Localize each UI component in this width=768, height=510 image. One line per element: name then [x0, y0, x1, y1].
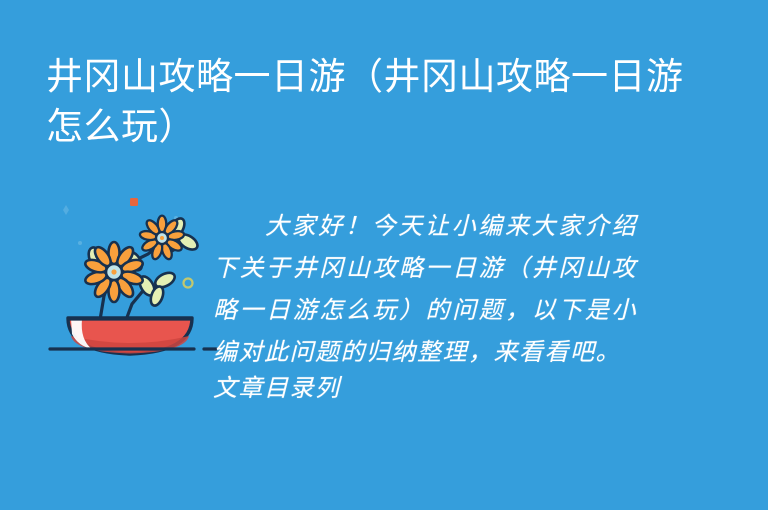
page-title: 井冈山攻略一日游（井冈山攻略一日游怎么玩）: [46, 52, 706, 152]
toc-heading: 文章目录列: [213, 369, 637, 407]
sparkle-square-icon: [130, 198, 138, 206]
article-cover-card: 井冈山攻略一日游（井冈山攻略一日游怎么玩）: [0, 0, 768, 510]
sparkle-dot-icon: [184, 279, 193, 288]
potted-flowers-icon: [44, 188, 224, 368]
intro-paragraph: 大家好！今天让小编来大家介绍下关于井冈山攻略一日游（井冈山攻略一日游怎么玩）的问…: [213, 205, 637, 373]
sparkle-mini-dot-icon: [78, 241, 82, 245]
page-title-block: 井冈山攻略一日游（井冈山攻略一日游怎么玩）: [46, 52, 706, 152]
potted-flowers-illustration: [44, 188, 224, 368]
sparkle-diamond-icon: [63, 205, 69, 215]
article-intro-block: 大家好！今天让小编来大家介绍下关于井冈山攻略一日游（井冈山攻略一日游怎么玩）的问…: [213, 205, 637, 407]
